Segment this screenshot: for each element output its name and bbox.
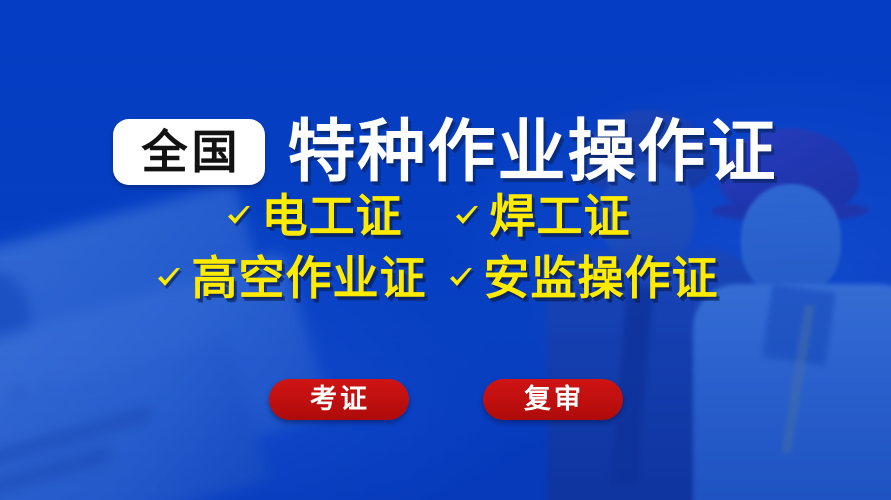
check-icon <box>448 265 474 291</box>
action-button-group: 考证 复审 <box>0 379 891 420</box>
feature-label: 高空作业证 <box>192 255 427 301</box>
review-button-label: 复审 <box>521 386 584 413</box>
feature-item-anjianzuozuozheng[interactable]: 安监操作证 <box>448 255 736 301</box>
banner-content: 全国 特种作业操作证 电工证 <box>0 0 891 500</box>
feature-label: 电工证 <box>262 193 403 239</box>
feature-label: 焊工证 <box>490 193 631 239</box>
feature-item-hangongzheng[interactable]: 焊工证 <box>454 193 666 239</box>
exam-button[interactable]: 考证 <box>269 379 409 420</box>
feature-row: 电工证 焊工证 <box>0 193 891 239</box>
feature-item-gaokongzuoyezheng[interactable]: 高空作业证 <box>156 255 448 301</box>
feature-list: 电工证 焊工证 <box>0 193 891 301</box>
certification-promo-banner: 全国 特种作业操作证 电工证 <box>0 0 891 500</box>
page-title: 特种作业操作证 <box>287 118 777 186</box>
review-button[interactable]: 复审 <box>483 379 623 420</box>
feature-row: 高空作业证 安监操作证 <box>0 255 891 301</box>
check-icon <box>156 265 182 291</box>
feature-item-diangongzheng[interactable]: 电工证 <box>226 193 454 239</box>
exam-button-label: 考证 <box>307 386 370 413</box>
region-badge: 全国 <box>113 119 265 185</box>
check-icon <box>226 203 252 229</box>
feature-label: 安监操作证 <box>484 255 719 301</box>
check-icon <box>454 203 480 229</box>
region-badge-label: 全国 <box>137 129 241 175</box>
